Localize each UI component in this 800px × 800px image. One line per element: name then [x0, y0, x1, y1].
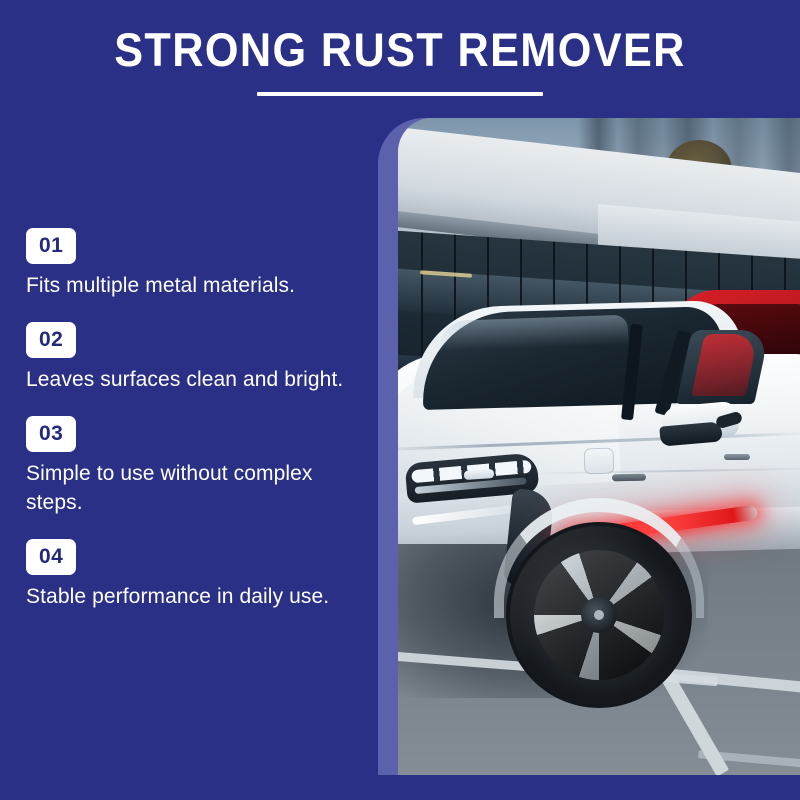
product-photo-car-outside-building: [398, 118, 800, 775]
feature-item-03: 03 Simple to use without complex steps.: [26, 416, 371, 517]
feature-text-01: Fits multiple metal materials.: [26, 271, 371, 300]
photo-charging-port-flap: [584, 447, 615, 474]
feature-text-03: Simple to use without complex steps.: [26, 459, 371, 517]
photo-front-door-handle: [612, 474, 646, 482]
feature-list: 01 Fits multiple metal materials. 02 Lea…: [26, 228, 371, 633]
feature-text-02: Leaves surfaces clean and bright.: [26, 365, 371, 394]
product-photo-frame: [378, 118, 800, 775]
bottom-accent-strip: [0, 775, 800, 800]
product-feature-poster: STRONG RUST REMOVER 01 Fits multiple met…: [0, 0, 800, 800]
feature-number-badge-02: 02: [26, 322, 76, 358]
header: STRONG RUST REMOVER: [0, 22, 800, 96]
feature-number-badge-04: 04: [26, 539, 76, 575]
feature-item-02: 02 Leaves surfaces clean and bright.: [26, 322, 371, 394]
title-underline-divider: [257, 92, 543, 96]
feature-text-04: Stable performance in daily use.: [26, 582, 371, 611]
feature-item-01: 01 Fits multiple metal materials.: [26, 228, 371, 300]
feature-item-04: 04 Stable performance in daily use.: [26, 539, 371, 611]
feature-number-badge-01: 01: [26, 228, 76, 264]
page-title: STRONG RUST REMOVER: [32, 22, 768, 78]
photo-rear-door-handle: [724, 454, 750, 460]
feature-number-badge-03: 03: [26, 416, 76, 452]
